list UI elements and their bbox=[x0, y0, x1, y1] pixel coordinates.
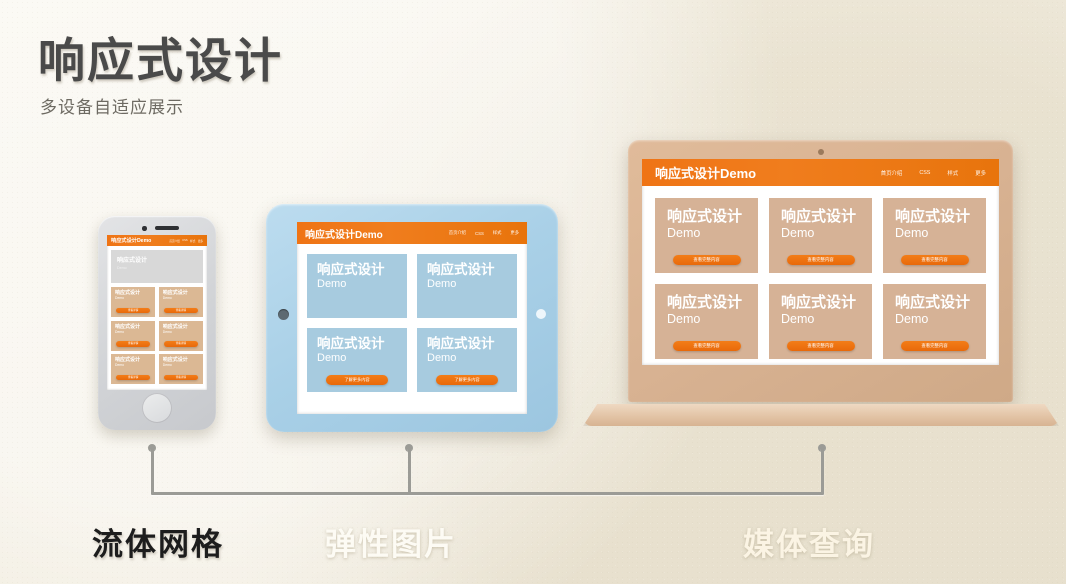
tablet-nav[interactable]: 首页介绍 CSS 样式 更多 bbox=[449, 230, 519, 236]
tablet-card-0[interactable]: 响应式设计 Demo bbox=[307, 254, 407, 318]
caption-flexible-image: 弹性图片 bbox=[325, 519, 457, 564]
card-subtitle: Demo bbox=[163, 364, 199, 368]
phone-card-2[interactable]: 响应式设计 Demo 查看详情 bbox=[111, 321, 155, 351]
card-subtitle: Demo bbox=[115, 331, 151, 335]
laptop-nav-item-3[interactable]: 更多 bbox=[975, 169, 986, 177]
phone-site-body: 响应式设计 Demo 响应式设计 Demo 查看详情 响应式设计 Demo 查看… bbox=[107, 246, 207, 390]
laptop-card-3[interactable]: 响应式设计 Demo 查看完整内容 bbox=[655, 284, 758, 359]
laptop-site-header: 响应式设计Demo 首页介绍 CSS 样式 更多 bbox=[642, 159, 999, 186]
card-title: 响应式设计 bbox=[781, 295, 860, 311]
laptop-nav-item-0[interactable]: 首页介绍 bbox=[881, 169, 903, 177]
card-title: 响应式设计 bbox=[895, 209, 974, 225]
caption-fluid-grid: 流体网格 bbox=[92, 519, 224, 564]
phone-brand-label: 响应式设计Demo bbox=[111, 237, 151, 244]
page-title: 响应式设计 bbox=[38, 22, 283, 91]
laptop-nav-item-1[interactable]: CSS bbox=[919, 170, 930, 176]
card-title: 响应式设计 bbox=[163, 325, 199, 330]
card-button[interactable]: 查看完整内容 bbox=[901, 341, 969, 351]
card-subtitle: Demo bbox=[317, 353, 397, 365]
phone-card-grid: 响应式设计 Demo 查看详情 响应式设计 Demo 查看详情 响应式设计 De… bbox=[111, 287, 203, 384]
phone-nav-item-1[interactable]: CSS bbox=[182, 239, 187, 242]
card-subtitle: Demo bbox=[895, 227, 974, 240]
tablet-home-button-icon[interactable] bbox=[278, 309, 289, 320]
card-title: 响应式设计 bbox=[667, 209, 746, 225]
connector-rail bbox=[151, 492, 824, 495]
phone-card-5[interactable]: 响应式设计 Demo 查看详情 bbox=[159, 354, 203, 384]
card-subtitle: Demo bbox=[781, 227, 860, 240]
card-title: 响应式设计 bbox=[667, 295, 746, 311]
card-title: 响应式设计 bbox=[115, 325, 151, 330]
tablet-card-1[interactable]: 响应式设计 Demo bbox=[417, 254, 517, 318]
phone-hero-title: 响应式设计 bbox=[117, 255, 197, 264]
device-mockup-phone[interactable]: 响应式设计Demo 首页介绍 CSS 样式 更多 响应式设计 Demo 响应式设… bbox=[98, 216, 216, 430]
card-button[interactable]: 查看完整内容 bbox=[787, 255, 855, 265]
laptop-nav-item-2[interactable]: 样式 bbox=[947, 169, 958, 177]
phone-nav-item-3[interactable]: 更多 bbox=[198, 239, 203, 243]
laptop-card-grid: 响应式设计 Demo 查看完整内容 响应式设计 Demo 查看完整内容 响应式设… bbox=[655, 198, 986, 359]
laptop-card-0[interactable]: 响应式设计 Demo 查看完整内容 bbox=[655, 198, 758, 273]
phone-nav-item-0[interactable]: 首页介绍 bbox=[169, 239, 179, 243]
card-subtitle: Demo bbox=[667, 313, 746, 326]
caption-media-query: 媒体查询 bbox=[743, 519, 875, 564]
page-subtitle: 多设备自适应展示 bbox=[40, 93, 184, 118]
laptop-site-body: 响应式设计 Demo 查看完整内容 响应式设计 Demo 查看完整内容 响应式设… bbox=[642, 186, 999, 365]
card-subtitle: Demo bbox=[115, 364, 151, 368]
slide-canvas: 响应式设计 多设备自适应展示 响应式设计Demo 首页介绍 CSS 样式 更多 … bbox=[0, 0, 1066, 584]
card-button[interactable]: 查看详情 bbox=[116, 308, 150, 314]
laptop-brand-label: 响应式设计Demo bbox=[655, 163, 756, 182]
phone-earpiece-icon bbox=[155, 226, 179, 230]
phone-card-0[interactable]: 响应式设计 Demo 查看详情 bbox=[111, 287, 155, 317]
card-button[interactable]: 查看详情 bbox=[116, 341, 150, 347]
card-subtitle: Demo bbox=[163, 331, 199, 335]
laptop-nav[interactable]: 首页介绍 CSS 样式 更多 bbox=[881, 169, 986, 177]
card-subtitle: Demo bbox=[667, 227, 746, 240]
card-subtitle: Demo bbox=[163, 297, 199, 301]
card-button[interactable]: 查看详情 bbox=[164, 375, 198, 381]
phone-home-button-icon[interactable] bbox=[142, 393, 172, 423]
card-title: 响应式设计 bbox=[781, 209, 860, 225]
tablet-camera-icon bbox=[536, 309, 546, 319]
phone-card-3[interactable]: 响应式设计 Demo 查看详情 bbox=[159, 321, 203, 351]
laptop-screen: 响应式设计Demo 首页介绍 CSS 样式 更多 响应式设计 Demo 查看完整… bbox=[642, 159, 999, 365]
phone-nav[interactable]: 首页介绍 CSS 样式 更多 bbox=[169, 239, 203, 243]
device-mockup-tablet[interactable]: 响应式设计Demo 首页介绍 CSS 样式 更多 响应式设计 Demo 响应式设… bbox=[266, 204, 558, 432]
tablet-nav-item-0[interactable]: 首页介绍 bbox=[449, 230, 466, 236]
card-button[interactable]: 了解更多内容 bbox=[436, 375, 498, 385]
phone-site-header: 响应式设计Demo 首页介绍 CSS 样式 更多 bbox=[107, 235, 207, 246]
phone-card-1[interactable]: 响应式设计 Demo 查看详情 bbox=[159, 287, 203, 317]
tablet-nav-item-2[interactable]: 样式 bbox=[493, 230, 502, 236]
tablet-brand-label: 响应式设计Demo bbox=[305, 226, 383, 241]
connector-lines bbox=[0, 430, 1066, 510]
card-title: 响应式设计 bbox=[427, 263, 507, 277]
laptop-base bbox=[583, 404, 1059, 426]
tablet-card-2[interactable]: 响应式设计 Demo 了解更多内容 bbox=[307, 328, 407, 392]
tablet-card-grid: 响应式设计 Demo 响应式设计 Demo 响应式设计 Demo 了解更多内容 … bbox=[307, 254, 517, 392]
card-button[interactable]: 查看完整内容 bbox=[673, 341, 741, 351]
tablet-site-header: 响应式设计Demo 首页介绍 CSS 样式 更多 bbox=[297, 222, 527, 244]
card-subtitle: Demo bbox=[427, 353, 507, 365]
card-button[interactable]: 查看详情 bbox=[164, 308, 198, 314]
card-button[interactable]: 查看完整内容 bbox=[787, 341, 855, 351]
card-title: 响应式设计 bbox=[317, 337, 397, 351]
laptop-card-1[interactable]: 响应式设计 Demo 查看完整内容 bbox=[769, 198, 872, 273]
card-subtitle: Demo bbox=[427, 279, 507, 291]
connector-stem-0 bbox=[151, 448, 154, 494]
card-button[interactable]: 查看详情 bbox=[116, 375, 150, 381]
card-subtitle: Demo bbox=[317, 279, 397, 291]
laptop-camera-icon bbox=[818, 149, 824, 155]
phone-card-4[interactable]: 响应式设计 Demo 查看详情 bbox=[111, 354, 155, 384]
laptop-card-4[interactable]: 响应式设计 Demo 查看完整内容 bbox=[769, 284, 872, 359]
tablet-nav-item-3[interactable]: 更多 bbox=[510, 230, 519, 236]
card-subtitle: Demo bbox=[781, 313, 860, 326]
card-subtitle: Demo bbox=[115, 297, 151, 301]
card-title: 响应式设计 bbox=[317, 263, 397, 277]
card-button[interactable]: 查看详情 bbox=[164, 341, 198, 347]
laptop-lid-frame: 响应式设计Demo 首页介绍 CSS 样式 更多 响应式设计 Demo 查看完整… bbox=[628, 140, 1013, 402]
card-subtitle: Demo bbox=[895, 313, 974, 326]
card-title: 响应式设计 bbox=[427, 337, 507, 351]
tablet-nav-item-1[interactable]: CSS bbox=[475, 231, 484, 236]
tablet-screen: 响应式设计Demo 首页介绍 CSS 样式 更多 响应式设计 Demo 响应式设… bbox=[297, 222, 527, 414]
phone-screen: 响应式设计Demo 首页介绍 CSS 样式 更多 响应式设计 Demo 响应式设… bbox=[107, 235, 207, 390]
laptop-card-2[interactable]: 响应式设计 Demo 查看完整内容 bbox=[883, 198, 986, 273]
phone-hero-card[interactable]: 响应式设计 Demo bbox=[111, 250, 203, 283]
connector-stem-1 bbox=[408, 448, 411, 494]
card-title: 响应式设计 bbox=[895, 295, 974, 311]
tablet-site-body: 响应式设计 Demo 响应式设计 Demo 响应式设计 Demo 了解更多内容 … bbox=[297, 244, 527, 402]
device-mockup-laptop[interactable]: 响应式设计Demo 首页介绍 CSS 样式 更多 响应式设计 Demo 查看完整… bbox=[583, 140, 1059, 432]
phone-camera-icon bbox=[142, 226, 147, 231]
card-button[interactable]: 查看完整内容 bbox=[901, 255, 969, 265]
phone-nav-item-2[interactable]: 样式 bbox=[190, 239, 195, 243]
laptop-card-5[interactable]: 响应式设计 Demo 查看完整内容 bbox=[883, 284, 986, 359]
phone-footer-row-1: 更多 bbox=[111, 389, 203, 390]
card-button[interactable]: 查看完整内容 bbox=[673, 255, 741, 265]
phone-site-footer: 更多 版权所有 © 响应式设计 网站备案信息 bbox=[111, 389, 203, 390]
card-button[interactable]: 了解更多内容 bbox=[326, 375, 388, 385]
tablet-card-3[interactable]: 响应式设计 Demo 了解更多内容 bbox=[417, 328, 517, 392]
connector-stem-2 bbox=[821, 448, 824, 494]
phone-hero-subtitle: Demo bbox=[117, 266, 197, 270]
